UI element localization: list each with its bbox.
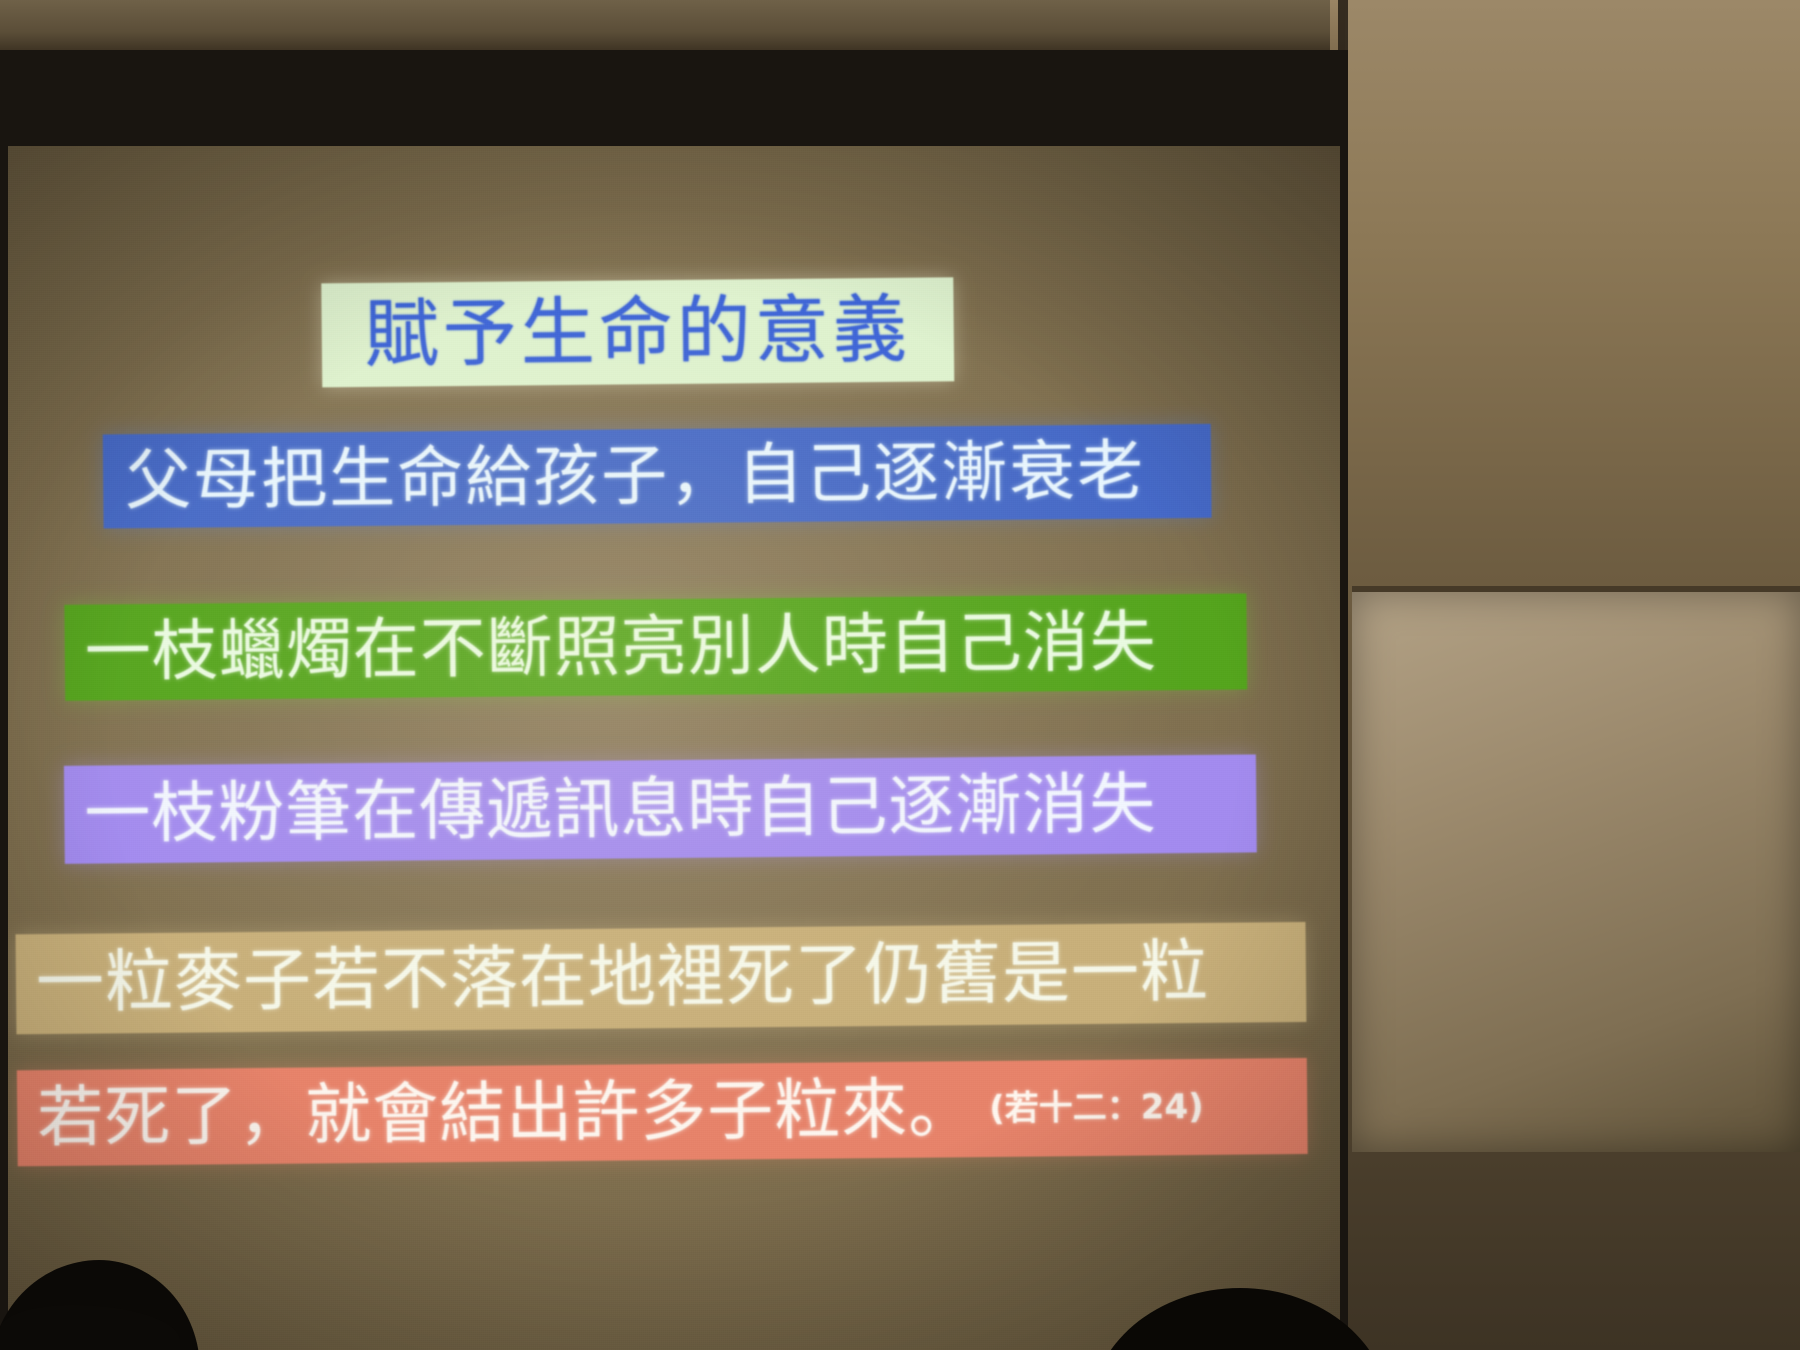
projection-screen-frame: 賦予生命的意義 父母把生命給孩子，自己逐漸衰老 一枝蠟燭在不斷照亮別人時自己消失… xyxy=(0,50,1348,1350)
line-candle-text: 一枝蠟燭在不斷照亮別人時自己消失 xyxy=(65,609,1158,685)
slide-title: 賦予生命的意義 xyxy=(364,293,911,372)
line-chalk-text: 一枝粉筆在傳遞訊息時自己逐漸消失 xyxy=(64,771,1157,847)
slide-title-band: 賦予生命的意義 xyxy=(321,277,954,387)
line-chalk: 一枝粉筆在傳遞訊息時自己逐漸消失 xyxy=(64,754,1257,863)
photograph: 賦予生命的意義 父母把生命給孩子，自己逐漸衰老 一枝蠟燭在不斷照亮別人時自己消失… xyxy=(0,0,1800,1350)
wall-panel xyxy=(1352,592,1800,1152)
line-parents-text: 父母把生命給孩子，自己逐漸衰老 xyxy=(103,438,1146,514)
line-grain-1-text: 一粒麥子若不落在地裡死了仍舊是一粒 xyxy=(16,939,1210,1018)
line-grain-2-text: 若死了，就會結出許多子粒來。 xyxy=(17,1076,976,1151)
projection-surface: 賦予生命的意義 父母把生命給孩子，自己逐漸衰老 一枝蠟燭在不斷照亮別人時自己消失… xyxy=(8,146,1340,1350)
slide: 賦予生命的意義 父母把生命給孩子，自己逐漸衰老 一枝蠟燭在不斷照亮別人時自己消失… xyxy=(8,146,1340,1350)
scripture-citation: (若十二：24) xyxy=(989,1090,1204,1126)
line-parents: 父母把生命給孩子，自己逐漸衰老 xyxy=(103,424,1212,529)
line-grain-2: 若死了，就會結出許多子粒來。 (若十二：24) xyxy=(17,1058,1308,1166)
line-candle: 一枝蠟燭在不斷照亮別人時自己消失 xyxy=(64,593,1247,700)
line-grain-1: 一粒麥子若不落在地裡死了仍舊是一粒 xyxy=(16,922,1307,1034)
